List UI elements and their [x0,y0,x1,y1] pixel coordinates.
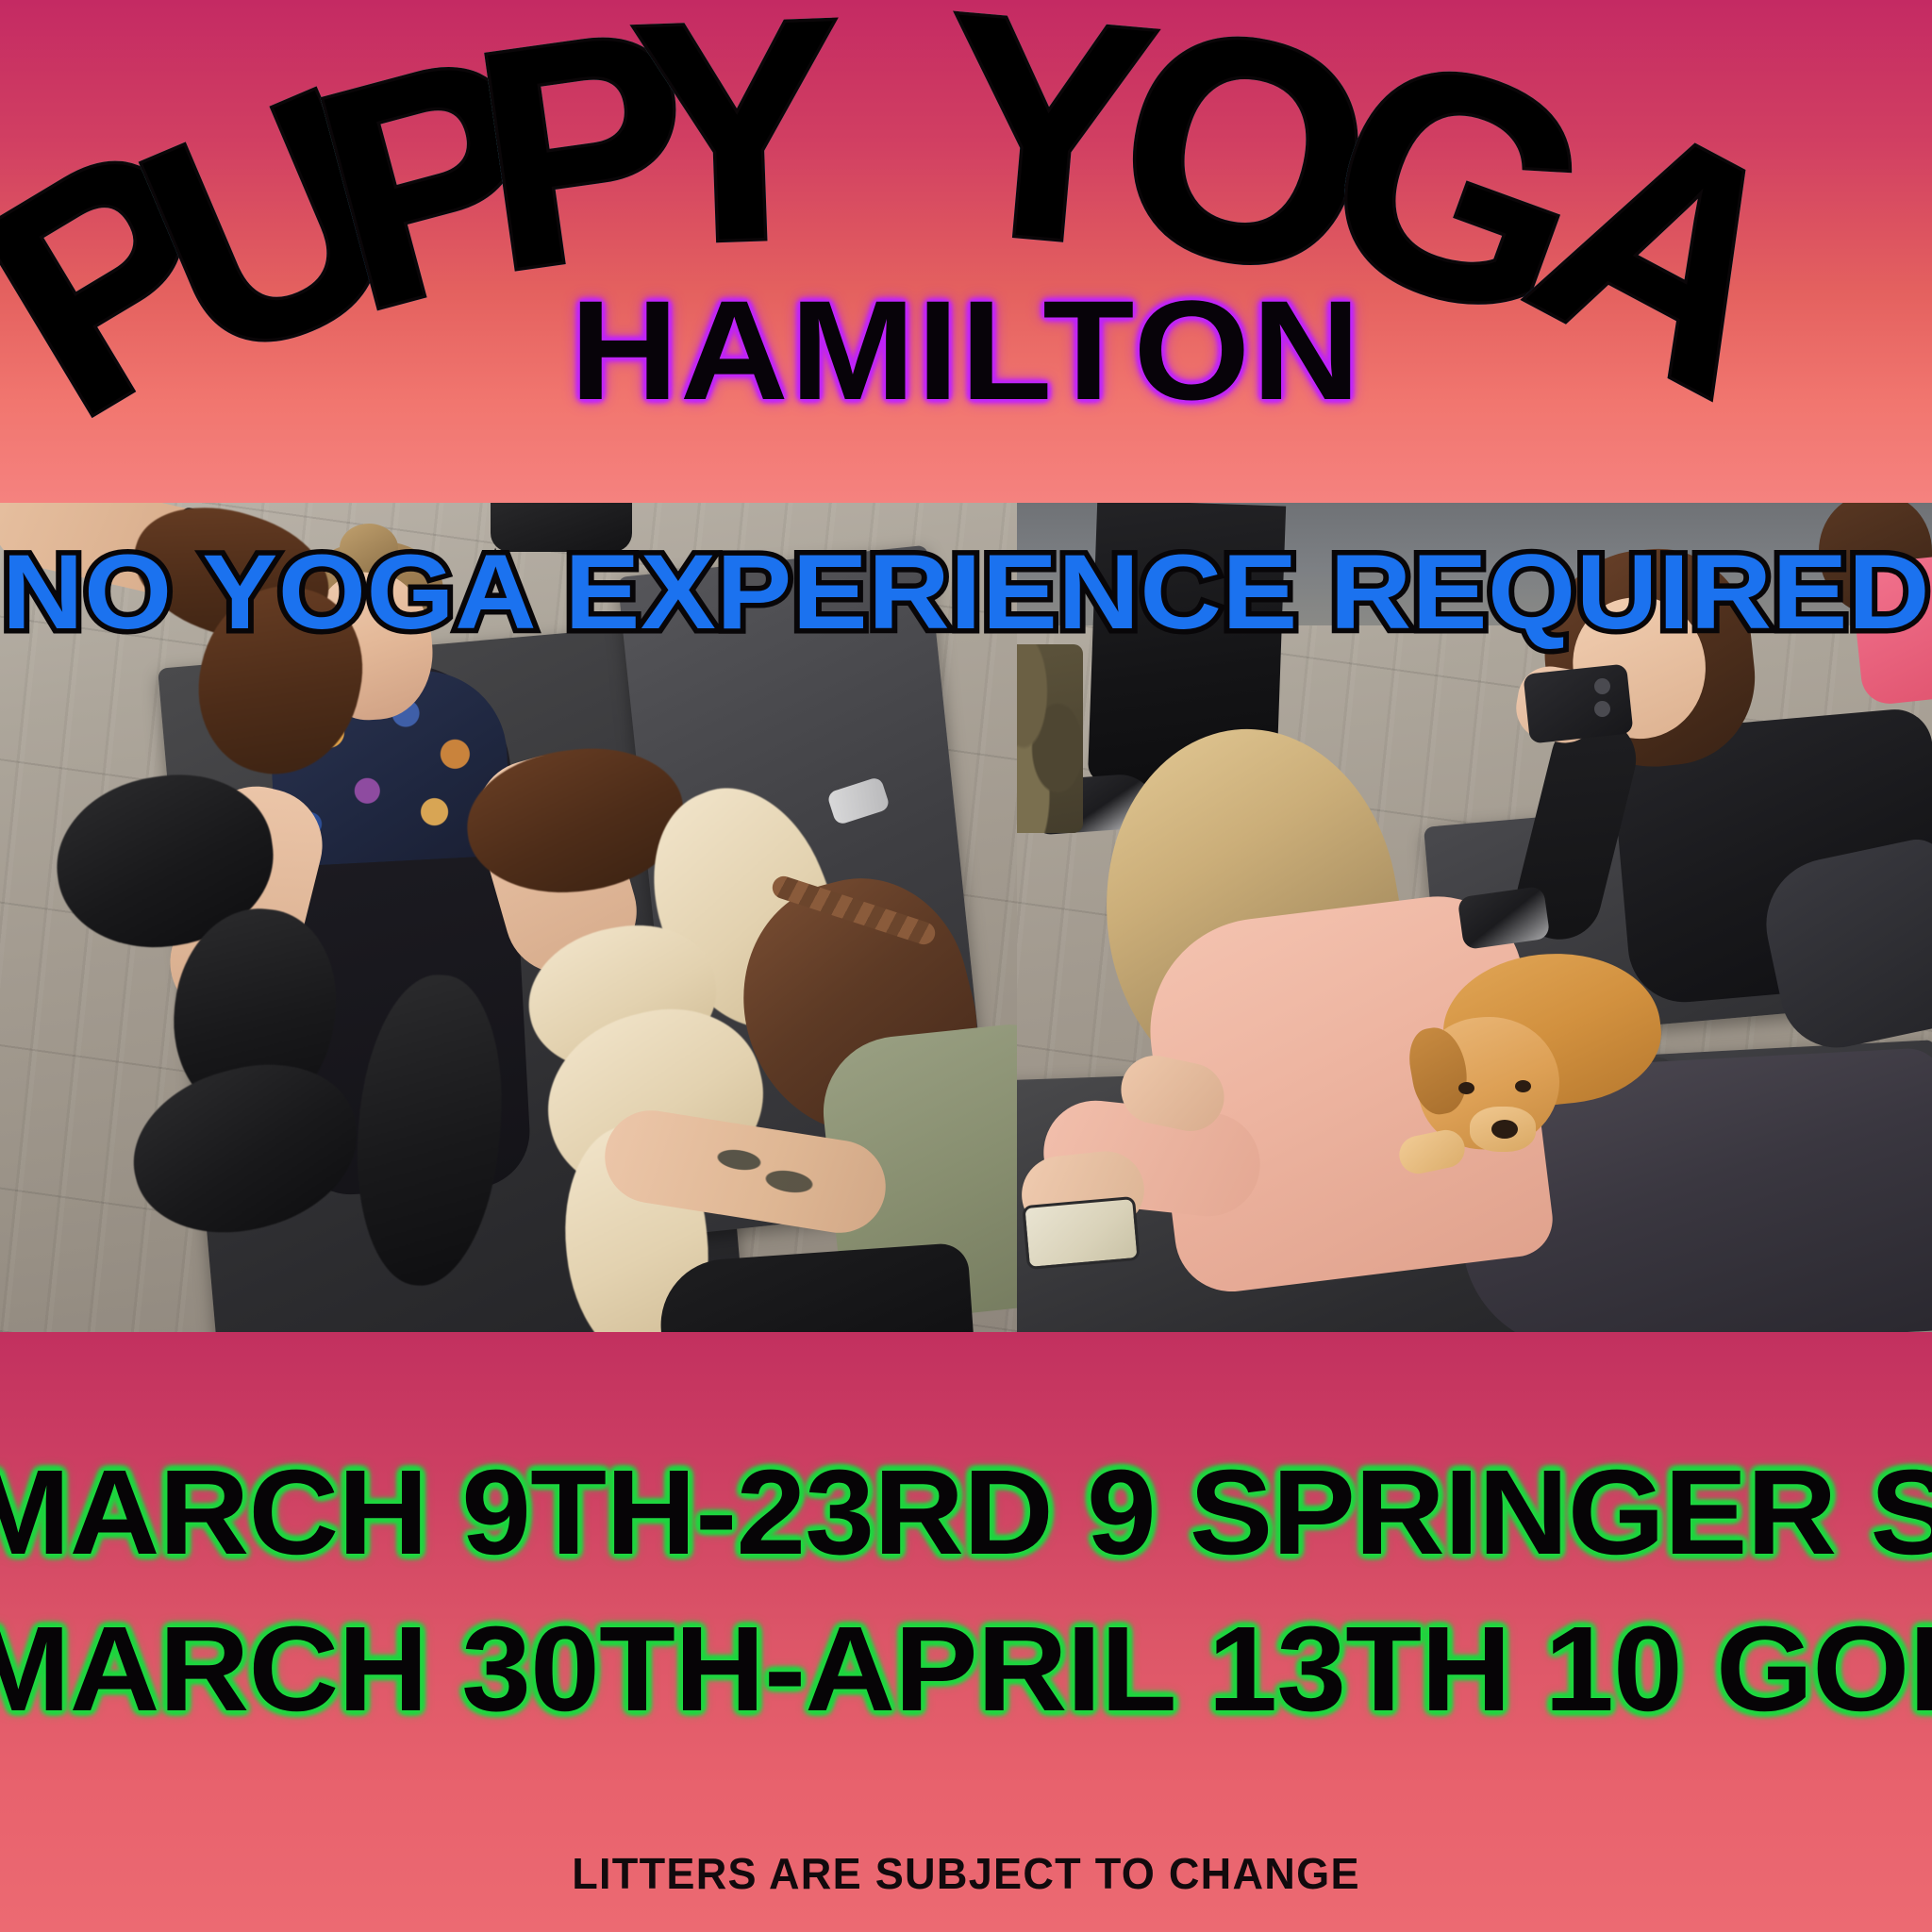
puppy-yoga-photo-left [0,503,1017,1332]
pink-tank-top [1849,554,1932,707]
puppy-eye [1515,1080,1531,1092]
hair-bun [340,524,398,573]
title-letter-y1: Y [629,0,840,262]
puppy-nose [1491,1120,1518,1139]
phone-camera-lens [1594,678,1610,694]
poster-footer [0,1332,1932,1932]
poster-header: P U P P Y Y O G A HAMILTON [0,0,1932,503]
camo-pants [1017,644,1083,833]
puppy-yoga-poster: P U P P Y Y O G A HAMILTON [0,0,1932,1932]
smartphone [1523,663,1633,743]
background-figure [491,503,632,552]
puppy-eye [1458,1082,1474,1094]
phone-camera-lens [1594,701,1610,717]
smartphone-on-mat [1022,1196,1140,1270]
photo-band [0,503,1932,1332]
location-title: HAMILTON [0,279,1932,421]
puppy-yoga-photo-right [1017,503,1932,1332]
